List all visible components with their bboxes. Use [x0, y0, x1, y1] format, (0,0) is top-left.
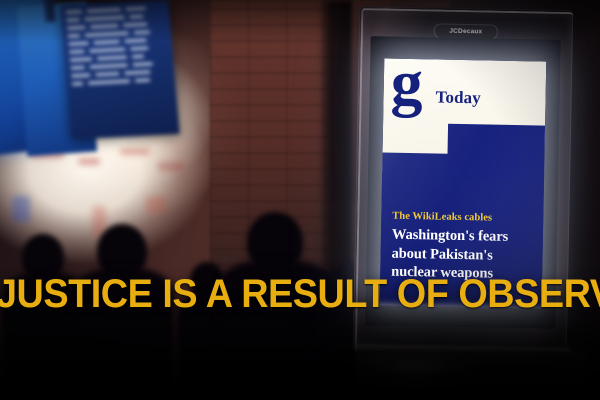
wall-poster-smudge — [120, 148, 150, 155]
wall-poster-smudge — [78, 158, 100, 165]
poster-masthead-cut — [447, 124, 545, 180]
departure-board-rows — [66, 6, 175, 134]
billboard-lightbox: g Today The WikiLeaks cables Washington'… — [365, 36, 561, 329]
table-row — [68, 38, 166, 46]
table-row — [66, 14, 164, 22]
jcdecaux-label: JCDecaux — [449, 28, 482, 36]
table-row — [71, 61, 169, 69]
sign-hanger-bracket — [43, 0, 56, 22]
street-scene-photo: JCDecaux g Today The WikiLeaks cables Wa… — [0, 0, 600, 400]
table-row — [72, 77, 170, 85]
poster-headline-line-1: Washington's fears — [392, 226, 535, 247]
poster-kicker: The WikiLeaks cables — [392, 211, 535, 225]
table-row — [67, 22, 165, 30]
sign-navy-departure-board — [60, 0, 180, 140]
table-row — [69, 46, 167, 54]
guardian-poster[interactable]: g Today The WikiLeaks cables Washington'… — [380, 58, 547, 308]
pavement-ground — [356, 352, 586, 400]
billboard[interactable]: JCDecaux g Today The WikiLeaks cables Wa… — [353, 6, 574, 355]
table-row — [68, 30, 166, 38]
poster-headline-line-3: nuclear weapons — [391, 263, 534, 284]
table-row — [70, 53, 168, 61]
table-row — [66, 6, 164, 14]
table-row — [71, 69, 169, 77]
person-body — [72, 268, 174, 400]
guardian-g-logo: g — [390, 58, 423, 115]
poster-masthead-word: Today — [435, 87, 481, 108]
poster-headline-block: The WikiLeaks cables Washington's fears … — [391, 211, 535, 284]
